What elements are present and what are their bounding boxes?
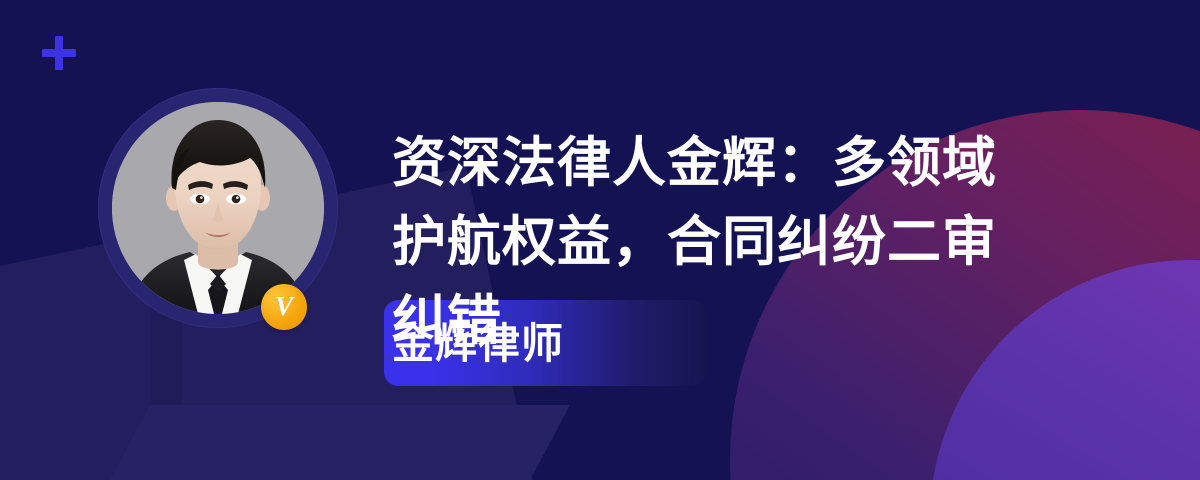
plus-icon (42, 36, 76, 70)
avatar[interactable]: V (98, 88, 338, 328)
avatar-photo (112, 102, 324, 314)
verified-badge-letter: V (275, 293, 293, 320)
banner-card: V 金辉律师 资深法律人金辉：多领域 护航权益，合同纠纷二审 纠错 (0, 0, 1200, 480)
verified-badge-icon: V (261, 284, 307, 330)
page-title: 资深法律人金辉：多领域 护航权益，合同纠纷二审 纠错 (392, 124, 1082, 361)
